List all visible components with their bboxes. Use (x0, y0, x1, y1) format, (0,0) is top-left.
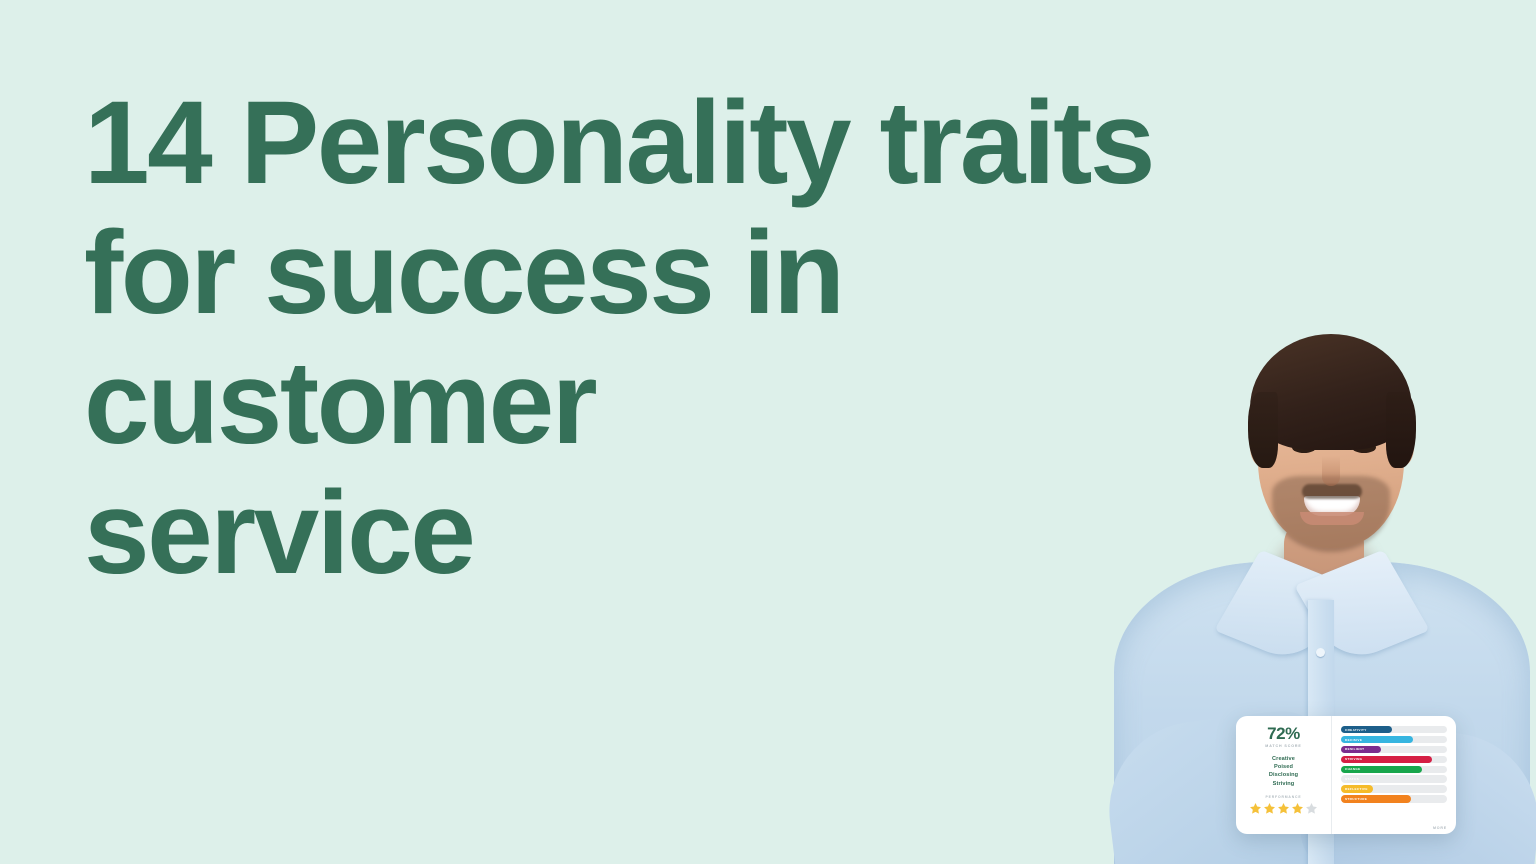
trait-bar-fill: RESILIENT (1341, 746, 1381, 753)
trait-bar-label: DECISIVE (1341, 738, 1362, 742)
trait-bar-label: STRIVING (1341, 757, 1362, 761)
trait-item: Disclosing (1269, 771, 1298, 779)
lower-lip (1300, 512, 1364, 525)
trait-bar-row: CHANGE (1341, 766, 1447, 773)
slide-canvas: 14 Personality traits for success in cus… (0, 0, 1536, 864)
star-icon (1291, 802, 1304, 815)
star-icon (1277, 802, 1290, 815)
trait-bar-row: CREATIVITY (1341, 726, 1447, 733)
trait-bar-label: STATUS (1341, 777, 1359, 781)
trait-bar-fill: STATUS (1341, 775, 1390, 782)
star-rating (1249, 802, 1318, 815)
performance-label: PERFORMANCE (1266, 795, 1302, 799)
card-bars-panel: CREATIVITYDECISIVERESILIENTSTRIVINGCHANG… (1332, 716, 1456, 834)
headline-line-4: service (84, 468, 1264, 598)
trait-list: Creative Poised Disclosing Striving (1269, 755, 1298, 788)
trait-bar-fill: STRUCTURE (1341, 795, 1411, 802)
hair-sideburn-left (1248, 392, 1278, 468)
trait-bar-row: DECISIVE (1341, 736, 1447, 743)
match-score-label: MATCH SCORE (1265, 744, 1301, 748)
hair-sideburn-right (1386, 392, 1416, 468)
match-score-value: 72% (1267, 725, 1300, 742)
trait-bar-fill: CREATIVITY (1341, 726, 1392, 733)
trait-item: Poised (1269, 763, 1298, 771)
trait-bar-row: STRUCTURE (1341, 795, 1447, 802)
headline-line-1: 14 Personality traits (84, 78, 1264, 208)
assessment-report-card[interactable]: 72% MATCH SCORE Creative Poised Disclosi… (1236, 716, 1456, 834)
more-link[interactable]: MORE (1433, 826, 1447, 830)
moustache (1302, 484, 1362, 499)
star-icon (1305, 802, 1318, 815)
trait-bar-label: STRUCTURE (1341, 797, 1367, 801)
trait-bar-row: STATUS (1341, 775, 1447, 782)
nose (1322, 456, 1340, 486)
trait-bar-label: REFLECTIVE (1341, 787, 1368, 791)
trait-bar-label: RESILIENT (1341, 747, 1364, 751)
headline-line-2: for success in (84, 208, 1264, 338)
trait-item: Creative (1269, 755, 1298, 763)
trait-bar-row: RESILIENT (1341, 746, 1447, 753)
trait-bar-chart: CREATIVITYDECISIVERESILIENTSTRIVINGCHANG… (1341, 726, 1447, 805)
card-summary-panel: 72% MATCH SCORE Creative Poised Disclosi… (1236, 716, 1332, 834)
trait-bar-row: STRIVING (1341, 756, 1447, 763)
shirt-button (1316, 648, 1325, 657)
headline-line-3: customer (84, 338, 1264, 468)
trait-bar-fill: CHANGE (1341, 766, 1422, 773)
star-icon (1263, 802, 1276, 815)
trait-bar-label: CHANGE (1341, 767, 1361, 771)
page-title: 14 Personality traits for success in cus… (84, 78, 1264, 598)
trait-bar-fill: DECISIVE (1341, 736, 1413, 743)
trait-bar-fill: REFLECTIVE (1341, 785, 1373, 792)
trait-item: Striving (1269, 780, 1298, 788)
trait-bar-fill: STRIVING (1341, 756, 1432, 763)
trait-bar-row: REFLECTIVE (1341, 785, 1447, 792)
star-icon (1249, 802, 1262, 815)
trait-bar-label: CREATIVITY (1341, 728, 1367, 732)
